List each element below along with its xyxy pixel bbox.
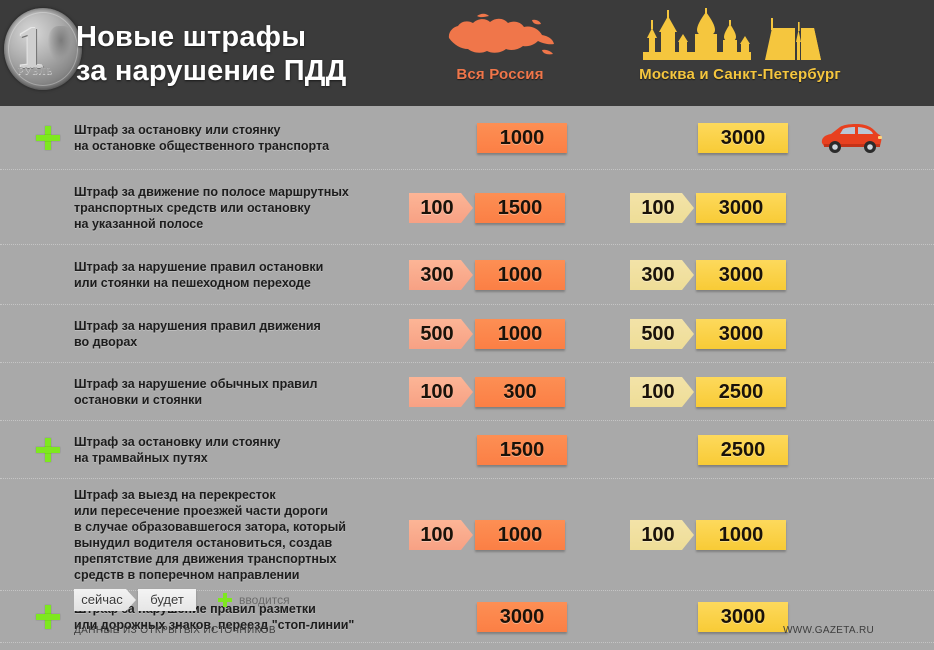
row-label-line: или стоянки на пешеходном переходе <box>74 275 404 291</box>
row-label-line: средств в поперечном направлении <box>74 567 404 583</box>
fine-future-badge: 1500 <box>477 435 567 465</box>
row-label-line: во дворах <box>74 334 404 350</box>
cities-fine-group: 5003000 <box>630 319 786 349</box>
cities-fine-group: 3000 <box>630 602 788 632</box>
row-label-line: на трамвайных путях <box>74 450 404 466</box>
row-label-line: Штраф за нарушение правил остановки <box>74 259 404 275</box>
row-label-line: в случае образовавшегося затора, который <box>74 519 404 535</box>
russia-fine-group: 1001000 <box>409 520 565 550</box>
row-label: Штраф за остановку или стоянкуна останов… <box>74 122 404 154</box>
row-label-line: Штраф за остановку или стоянку <box>74 434 404 450</box>
fine-future-badge: 3000 <box>696 319 786 349</box>
site-credit: WWW.GAZETA.RU <box>783 625 874 636</box>
row-label-line: Штраф за нарушение обычных правил <box>74 376 404 392</box>
fine-future-badge: 1000 <box>475 520 565 550</box>
russia-fine-group: 100300 <box>409 377 565 407</box>
fine-future-badge: 3000 <box>696 260 786 290</box>
fine-future-badge: 3000 <box>698 123 788 153</box>
source-note: ДАННЫЕ ИЗ ОТКРЫТЫХ ИСТОЧНИКОВ <box>74 625 276 636</box>
russia-fine-group: 3001000 <box>409 260 565 290</box>
row-label-line: Штраф за выезд на перекресток <box>74 487 404 503</box>
infographic-root: 1 РУБЛЬ Новые штрафы за нарушение ПДД Вс… <box>0 0 934 650</box>
row-label-line: вынудил водителя остановиться, создав <box>74 535 404 551</box>
cities-fine-group: 1001000 <box>630 520 786 550</box>
legend-region-cities-label: Москва и Санкт-Петербург <box>590 66 890 83</box>
cities-fine-group: 1003000 <box>630 193 786 223</box>
page-title: Новые штрафы за нарушение ПДД <box>76 20 347 88</box>
header: 1 РУБЛЬ Новые штрафы за нарушение ПДД Вс… <box>0 0 934 106</box>
cities-fine-group: 3000 <box>630 123 788 153</box>
russia-fine-group: 1000 <box>409 123 567 153</box>
fine-now-badge: 100 <box>630 520 694 550</box>
fine-now-badge: 100 <box>630 193 694 223</box>
row-label-line: Штраф за остановку или стоянку <box>74 122 404 138</box>
russia-fine-group: 3000 <box>409 602 567 632</box>
row-label-line: препятствие для движения транспортных <box>74 551 404 567</box>
table-row: Штраф за нарушение обычных правилостанов… <box>0 363 934 421</box>
fines-table: Штраф за остановку или стоянкуна останов… <box>0 106 934 643</box>
russia-map-icon <box>444 8 556 64</box>
legend-region-russia-label: Вся Россия <box>430 66 570 83</box>
russia-fine-group: 1500 <box>409 435 567 465</box>
fine-future-badge: 300 <box>475 377 565 407</box>
fine-now-badge: 500 <box>630 319 694 349</box>
row-label: Штраф за нарушение правил остановкиили с… <box>74 259 404 291</box>
green-plus-icon <box>218 593 232 607</box>
table-row: Штраф за движение по полосе маршрутныхтр… <box>0 170 934 245</box>
page-title-line1: Новые штрафы <box>76 20 347 54</box>
row-label-line: на указанной полосе <box>74 216 404 232</box>
row-label: Штраф за нарушение обычных правилостанов… <box>74 376 404 408</box>
fine-future-badge: 1500 <box>475 193 565 223</box>
row-label: Штраф за остановку или стоянкуна трамвай… <box>74 434 404 466</box>
row-label-line: транспортных средств или остановку <box>74 200 404 216</box>
table-row: Штраф за остановку или стоянкуна трамвай… <box>0 421 934 479</box>
row-label-line: на остановке общественного транспорта <box>74 138 404 154</box>
table-row: Штраф за нарушение правил остановкиили с… <box>0 245 934 305</box>
fine-now-badge: 300 <box>630 260 694 290</box>
russia-fine-group: 1001500 <box>409 193 565 223</box>
cities-fine-group: 3003000 <box>630 260 786 290</box>
fine-future-badge: 3000 <box>698 602 788 632</box>
fine-now-badge: 100 <box>409 520 473 550</box>
table-row: Штраф за нарушения правил движенияво дво… <box>0 305 934 363</box>
fine-future-badge: 1000 <box>477 123 567 153</box>
legend-region-cities: Москва и Санкт-Петербург <box>590 8 890 83</box>
fine-now-badge: 300 <box>409 260 473 290</box>
table-row: Штраф за остановку или стоянкуна останов… <box>0 106 934 170</box>
fine-future-badge: 2500 <box>698 435 788 465</box>
legend-now-badge: сейчас <box>74 589 136 611</box>
legend-region-russia: Вся Россия <box>430 8 570 83</box>
fine-now-badge: 500 <box>409 319 473 349</box>
coin-emblem-icon <box>48 26 74 62</box>
coin-word: РУБЛЬ <box>18 66 53 77</box>
green-plus-icon <box>36 605 60 629</box>
table-row: Штраф за выезд на перекрестокили пересеч… <box>0 479 934 591</box>
legend: сейчас будет вводится <box>74 589 290 611</box>
legend-future-badge: будет <box>138 589 196 611</box>
row-label: Штраф за выезд на перекрестокили пересеч… <box>74 487 404 583</box>
fine-future-badge: 1000 <box>475 260 565 290</box>
fine-now-badge: 100 <box>630 377 694 407</box>
fine-now-badge: 100 <box>409 193 473 223</box>
russia-fine-group: 5001000 <box>409 319 565 349</box>
cities-fine-group: 2500 <box>630 435 788 465</box>
fine-future-badge: 3000 <box>696 193 786 223</box>
row-label-line: Штраф за нарушения правил движения <box>74 318 404 334</box>
green-plus-icon <box>36 438 60 462</box>
fine-future-badge: 2500 <box>696 377 786 407</box>
row-label: Штраф за движение по полосе маршрутныхтр… <box>74 184 404 232</box>
legend-new-label: вводится <box>239 593 290 607</box>
ruble-coin-icon: 1 РУБЛЬ <box>4 8 82 90</box>
red-car-icon <box>818 121 884 155</box>
fine-now-badge: 100 <box>409 377 473 407</box>
row-label-line: или пересечение проезжей части дороги <box>74 503 404 519</box>
row-label: Штраф за нарушения правил движенияво дво… <box>74 318 404 350</box>
fine-future-badge: 3000 <box>477 602 567 632</box>
row-label-line: остановки и стоянки <box>74 392 404 408</box>
cities-fine-group: 1002500 <box>630 377 786 407</box>
fine-future-badge: 1000 <box>475 319 565 349</box>
green-plus-icon <box>36 126 60 150</box>
page-title-line2: за нарушение ПДД <box>76 54 347 88</box>
fine-future-badge: 1000 <box>696 520 786 550</box>
kremlin-skyline-icon <box>625 8 855 64</box>
row-label-line: Штраф за движение по полосе маршрутных <box>74 184 404 200</box>
